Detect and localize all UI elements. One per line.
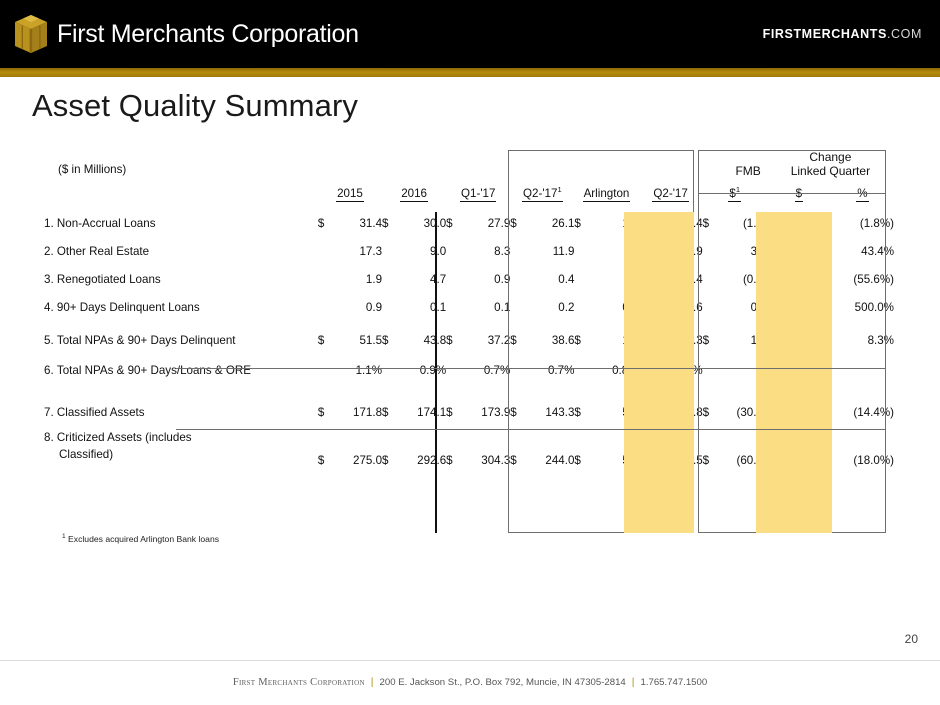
cell-2016-currency <box>382 258 396 286</box>
cell-2015: 31.4 <box>332 202 382 230</box>
cell-2016-currency <box>382 347 396 377</box>
cell-2015-currency: $ <box>318 314 332 347</box>
page-title: Asset Quality Summary <box>32 88 732 124</box>
row-label: Criticized Assets (includes <box>57 431 192 444</box>
change-caption-divider <box>698 193 886 194</box>
cell-q1-currency <box>446 347 460 377</box>
page-footer: First Merchants Corporation|200 E. Jacks… <box>0 672 940 690</box>
cell-q1-currency: $ <box>446 202 460 230</box>
cell-q1: 0.9 <box>460 258 510 286</box>
cell-2015: 275.0 <box>332 419 382 467</box>
cell-2015-currency <box>318 347 332 377</box>
row-number: 2. <box>44 245 54 258</box>
cell-2015: 17.3 <box>332 230 382 258</box>
cell-2016: 174.1 <box>396 377 446 419</box>
cell-2015-currency <box>318 258 332 286</box>
cell-2016-currency <box>382 286 396 314</box>
row-number: 4. <box>44 301 54 314</box>
col-q1-17: Q1-'17 <box>446 180 510 202</box>
units-note: ($ in Millions) <box>58 163 126 176</box>
cell-q1: 173.9 <box>460 377 510 419</box>
cell-2016: 0.1 <box>396 286 446 314</box>
row-number: 6. <box>44 364 54 377</box>
row-label-line2: Classified) <box>44 446 318 463</box>
cell-2015: 51.5 <box>332 314 382 347</box>
row-label: Renegotiated Loans <box>57 273 161 286</box>
fmb-highlight-band <box>624 212 694 533</box>
cell-2015-currency: $ <box>318 419 332 467</box>
asset-quality-table-wrapper: ($ in Millions) FMB Change Linked Quarte… <box>44 150 894 467</box>
row-label: Non-Accrual Loans <box>57 217 156 230</box>
cell-2015-currency <box>318 230 332 258</box>
footer-separator-2: | <box>626 676 641 688</box>
totals-top-rule <box>176 368 886 369</box>
cell-q1: 0.1 <box>460 286 510 314</box>
cell-2016-currency: $ <box>382 419 396 467</box>
row-label: 90+ Days Delinquent Loans <box>57 301 200 314</box>
col-2016: 2016 <box>382 180 446 202</box>
footer-company: First Merchants Corporation <box>233 677 365 688</box>
gold-divider-bar <box>0 68 940 77</box>
q1-column-divider <box>435 212 437 533</box>
row-label: Total NPAs & 90+ Days Delinquent <box>57 334 236 347</box>
cell-q1-currency <box>446 230 460 258</box>
cell-2016-currency <box>382 230 396 258</box>
change-highlight-band <box>756 212 832 533</box>
cell-q1: 37.2 <box>460 314 510 347</box>
cube-logo-icon <box>14 14 48 54</box>
col-2015: 2015 <box>318 180 382 202</box>
cell-2015-currency <box>318 286 332 314</box>
page-header: First Merchants Corporation FIRSTMERCHAN… <box>0 0 940 68</box>
cell-q1: 27.9 <box>460 202 510 230</box>
cell-q1-currency <box>446 258 460 286</box>
cell-2015: 0.9 <box>332 286 382 314</box>
cell-q1-currency: $ <box>446 314 460 347</box>
row-number: 1. <box>44 217 54 230</box>
cell-q1-currency <box>446 286 460 314</box>
cell-q1: 304.3 <box>460 419 510 467</box>
cell-2015: 1.1% <box>332 347 382 377</box>
footer-address: 200 E. Jackson St., P.O. Box 792, Muncie… <box>380 677 626 688</box>
row-number: 3. <box>44 273 54 286</box>
row-number: 8. <box>44 431 54 444</box>
cell-q1: 8.3 <box>460 230 510 258</box>
cell-q1-currency: $ <box>446 377 460 419</box>
site-url: FIRSTMERCHANTS.COM <box>763 25 926 43</box>
footer-phone: 1.765.747.1500 <box>640 677 707 688</box>
cell-2016-currency: $ <box>382 377 396 419</box>
site-url-light: .COM <box>887 27 922 41</box>
cell-2016: 30.0 <box>396 202 446 230</box>
footnote-text: Excludes acquired Arlington Bank loans <box>66 534 219 544</box>
row-label: Other Real Estate <box>57 245 149 258</box>
cell-2015: 1.9 <box>332 258 382 286</box>
site-url-bold: FIRSTMERCHANTS <box>763 27 887 41</box>
brand-title: First Merchants Corporation <box>57 20 359 49</box>
row-label: Classified Assets <box>57 406 145 419</box>
row-number: 5. <box>44 334 54 347</box>
page-number: 20 <box>905 632 918 646</box>
cell-2016: 9.0 <box>396 230 446 258</box>
cell-2015-currency: $ <box>318 377 332 419</box>
footnote: 1 Excludes acquired Arlington Bank loans <box>62 534 219 544</box>
cell-2015: 171.8 <box>332 377 382 419</box>
row-number: 7. <box>44 406 54 419</box>
cell-2016: 43.8 <box>396 314 446 347</box>
cell-2016: 292.6 <box>396 419 446 467</box>
cell-2016-currency: $ <box>382 202 396 230</box>
row-label: Total NPAs & 90+ Days/Loans & ORE <box>57 364 251 377</box>
footer-separator-1: | <box>365 676 380 688</box>
cell-2015-currency: $ <box>318 202 332 230</box>
cell-2016-currency: $ <box>382 314 396 347</box>
cell-2016: 4.7 <box>396 258 446 286</box>
footer-divider <box>0 660 940 661</box>
cell-q1: 0.7% <box>460 347 510 377</box>
cell-2016: 0.9% <box>396 347 446 377</box>
cell-q1-currency: $ <box>446 419 460 467</box>
totals-bottom-rule <box>176 429 886 430</box>
